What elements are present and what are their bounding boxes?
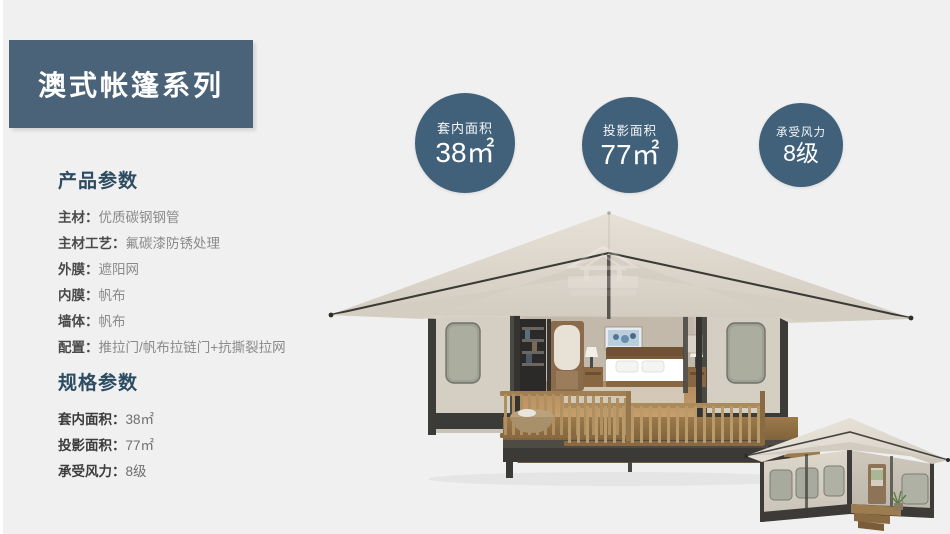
param-label: 投影面积： xyxy=(58,438,126,453)
page-title: 澳式帐篷系列 xyxy=(38,64,224,104)
title-banner: 澳式帐篷系列 xyxy=(9,40,253,128)
stat-value: 77㎡ xyxy=(600,140,659,169)
product-parameters-heading: 产品参数 xyxy=(58,166,286,193)
param-value: 氟碳漆防锈处理 xyxy=(126,236,221,251)
param-row: 内膜：帆布 xyxy=(58,283,286,309)
param-row: 墙体：帆布 xyxy=(58,309,286,335)
stat-label: 承受风力 xyxy=(776,124,826,140)
param-label: 墙体： xyxy=(58,314,99,329)
param-row: 承受风力：8级 xyxy=(58,459,154,485)
stat-label: 套内面积 xyxy=(437,118,493,137)
param-label: 套内面积： xyxy=(58,412,126,427)
stat-circle-projected-area: 投影面积 77㎡ xyxy=(582,97,678,193)
param-row: 主材工艺：氟碳漆防锈处理 xyxy=(58,231,286,257)
specification-parameters-heading: 规格参数 xyxy=(58,368,154,395)
param-row: 套内面积：38㎡ xyxy=(58,407,154,433)
param-value: 遮阳网 xyxy=(99,262,140,277)
stat-label: 投影面积 xyxy=(603,120,657,139)
slide-canvas: 澳式帐篷系列 产品参数 主材：优质碳钢钢管 主材工艺：氟碳漆防锈处理 外膜：遮阳… xyxy=(0,0,950,534)
specification-parameters-section: 规格参数 套内面积：38㎡ 投影面积：77㎡ 承受风力：8级 xyxy=(58,368,154,485)
param-label: 主材工艺： xyxy=(58,236,126,251)
param-value: 优质碳钢钢管 xyxy=(99,210,180,225)
secondary-tent-illustration xyxy=(738,412,950,534)
param-label: 内膜： xyxy=(58,288,99,303)
param-value: 38㎡ xyxy=(126,412,155,427)
secondary-tent-svg xyxy=(738,412,950,534)
stat-value: 8级 xyxy=(783,141,819,165)
param-label: 外膜： xyxy=(58,262,99,277)
product-parameters-section: 产品参数 主材：优质碳钢钢管 主材工艺：氟碳漆防锈处理 外膜：遮阳网 内膜：帆布… xyxy=(58,166,286,361)
param-label: 主材： xyxy=(58,210,99,225)
stat-circle-interior-area: 套内面积 38㎡ xyxy=(415,93,515,193)
param-row: 主材：优质碳钢钢管 xyxy=(58,205,286,231)
param-label: 配置： xyxy=(58,340,99,355)
param-row: 外膜：遮阳网 xyxy=(58,257,286,283)
param-row: 投影面积：77㎡ xyxy=(58,433,154,459)
param-value: 帆布 xyxy=(99,314,126,329)
param-value: 8级 xyxy=(126,464,147,479)
param-row: 配置：推拉门/帆布拉链门+抗撕裂拉网 xyxy=(58,335,286,361)
param-label: 承受风力： xyxy=(58,464,126,479)
stat-circle-wind-resistance: 承受风力 8级 xyxy=(759,103,843,187)
param-value: 推拉门/帆布拉链门+抗撕裂拉网 xyxy=(99,340,286,355)
stat-value: 38㎡ xyxy=(435,138,494,167)
param-value: 帆布 xyxy=(99,288,126,303)
param-value: 77㎡ xyxy=(126,438,155,453)
